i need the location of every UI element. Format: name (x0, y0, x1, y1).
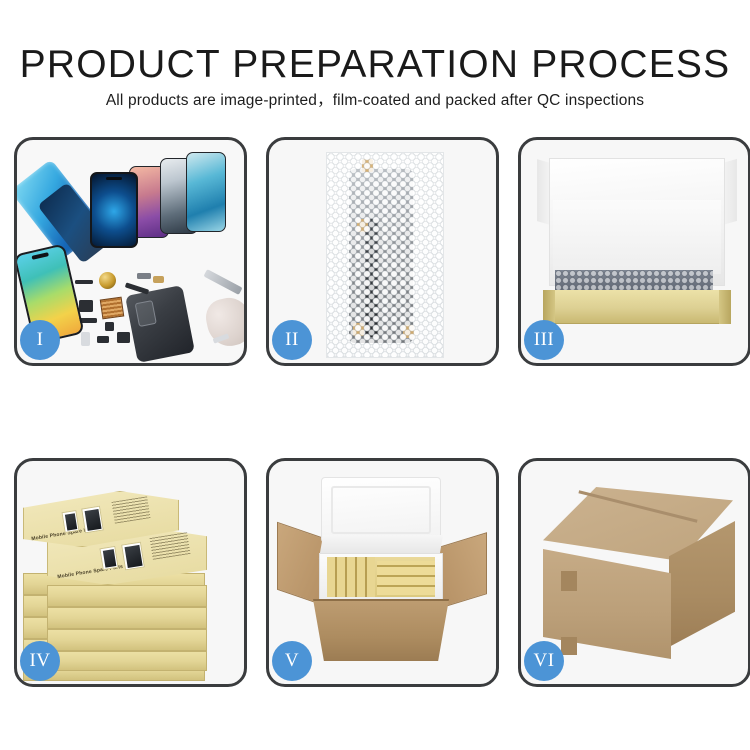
bubble-bag-icon (326, 152, 444, 358)
step-badge-5: V (272, 641, 312, 681)
phone-blue-icon (186, 152, 226, 232)
step-panel-1[interactable]: I (14, 137, 247, 366)
box-window (121, 542, 145, 571)
part-small-icon (105, 322, 114, 331)
step-panel-2[interactable]: II (266, 137, 499, 366)
box-window (61, 510, 79, 533)
step-badge-4: IV (20, 641, 60, 681)
product-preparation-infographic: PRODUCT PREPARATION PROCESS All products… (0, 0, 750, 750)
stacked-box (47, 651, 207, 671)
coil-component-icon (99, 272, 116, 289)
phone-backplate-icon (125, 285, 195, 363)
chip-grid-icon (100, 297, 125, 320)
part-connector-icon (137, 273, 151, 279)
hand-icon (202, 294, 244, 350)
part-block-icon (79, 300, 93, 312)
box-window (99, 546, 118, 570)
bubble-texture-icon (327, 153, 443, 357)
page-title: PRODUCT PREPARATION PROCESS (0, 44, 750, 86)
carton-tab-lower-icon (561, 637, 577, 655)
inner-boxes-row-left-icon (327, 557, 375, 597)
stacked-box (47, 629, 207, 651)
part-dark-icon (97, 336, 109, 343)
carton-front-icon (313, 599, 449, 661)
box-window (81, 506, 104, 534)
part-gold-icon (153, 276, 164, 283)
tweezers-icon (203, 269, 242, 295)
step-badge-2: II (272, 320, 312, 360)
stacked-box (47, 607, 207, 629)
step-panel-3[interactable]: III (518, 137, 750, 366)
kraft-box-body-icon (543, 290, 731, 324)
inner-boxes-row-right-icon (377, 561, 435, 595)
part-strip-icon (75, 280, 93, 284)
process-steps-grid: I II (14, 137, 736, 737)
part-camera-icon (117, 332, 130, 343)
page-subtitle: All products are image-printed，film-coat… (0, 88, 750, 110)
step-panel-5[interactable]: V (266, 458, 499, 687)
step-badge-3: III (524, 320, 564, 360)
step-panel-6[interactable]: VI (518, 458, 750, 687)
kraft-box-side-right-icon (719, 290, 731, 324)
phone-screen-front-icon (90, 172, 138, 248)
step-badge-1: I (20, 320, 60, 360)
kraft-box-side-left-icon (543, 290, 555, 324)
foam-cooler-lid-icon (321, 477, 441, 543)
step-panel-4[interactable]: Mobile Phone Spare Parts Mobile Phone Sp… (14, 458, 247, 687)
stacked-box (47, 585, 207, 607)
carton-tab-upper-icon (561, 571, 577, 591)
foam-sheet-icon (553, 200, 721, 274)
header: PRODUCT PREPARATION PROCESS All products… (0, 0, 750, 128)
part-white-icon (81, 332, 90, 346)
step-badge-6: VI (524, 641, 564, 681)
